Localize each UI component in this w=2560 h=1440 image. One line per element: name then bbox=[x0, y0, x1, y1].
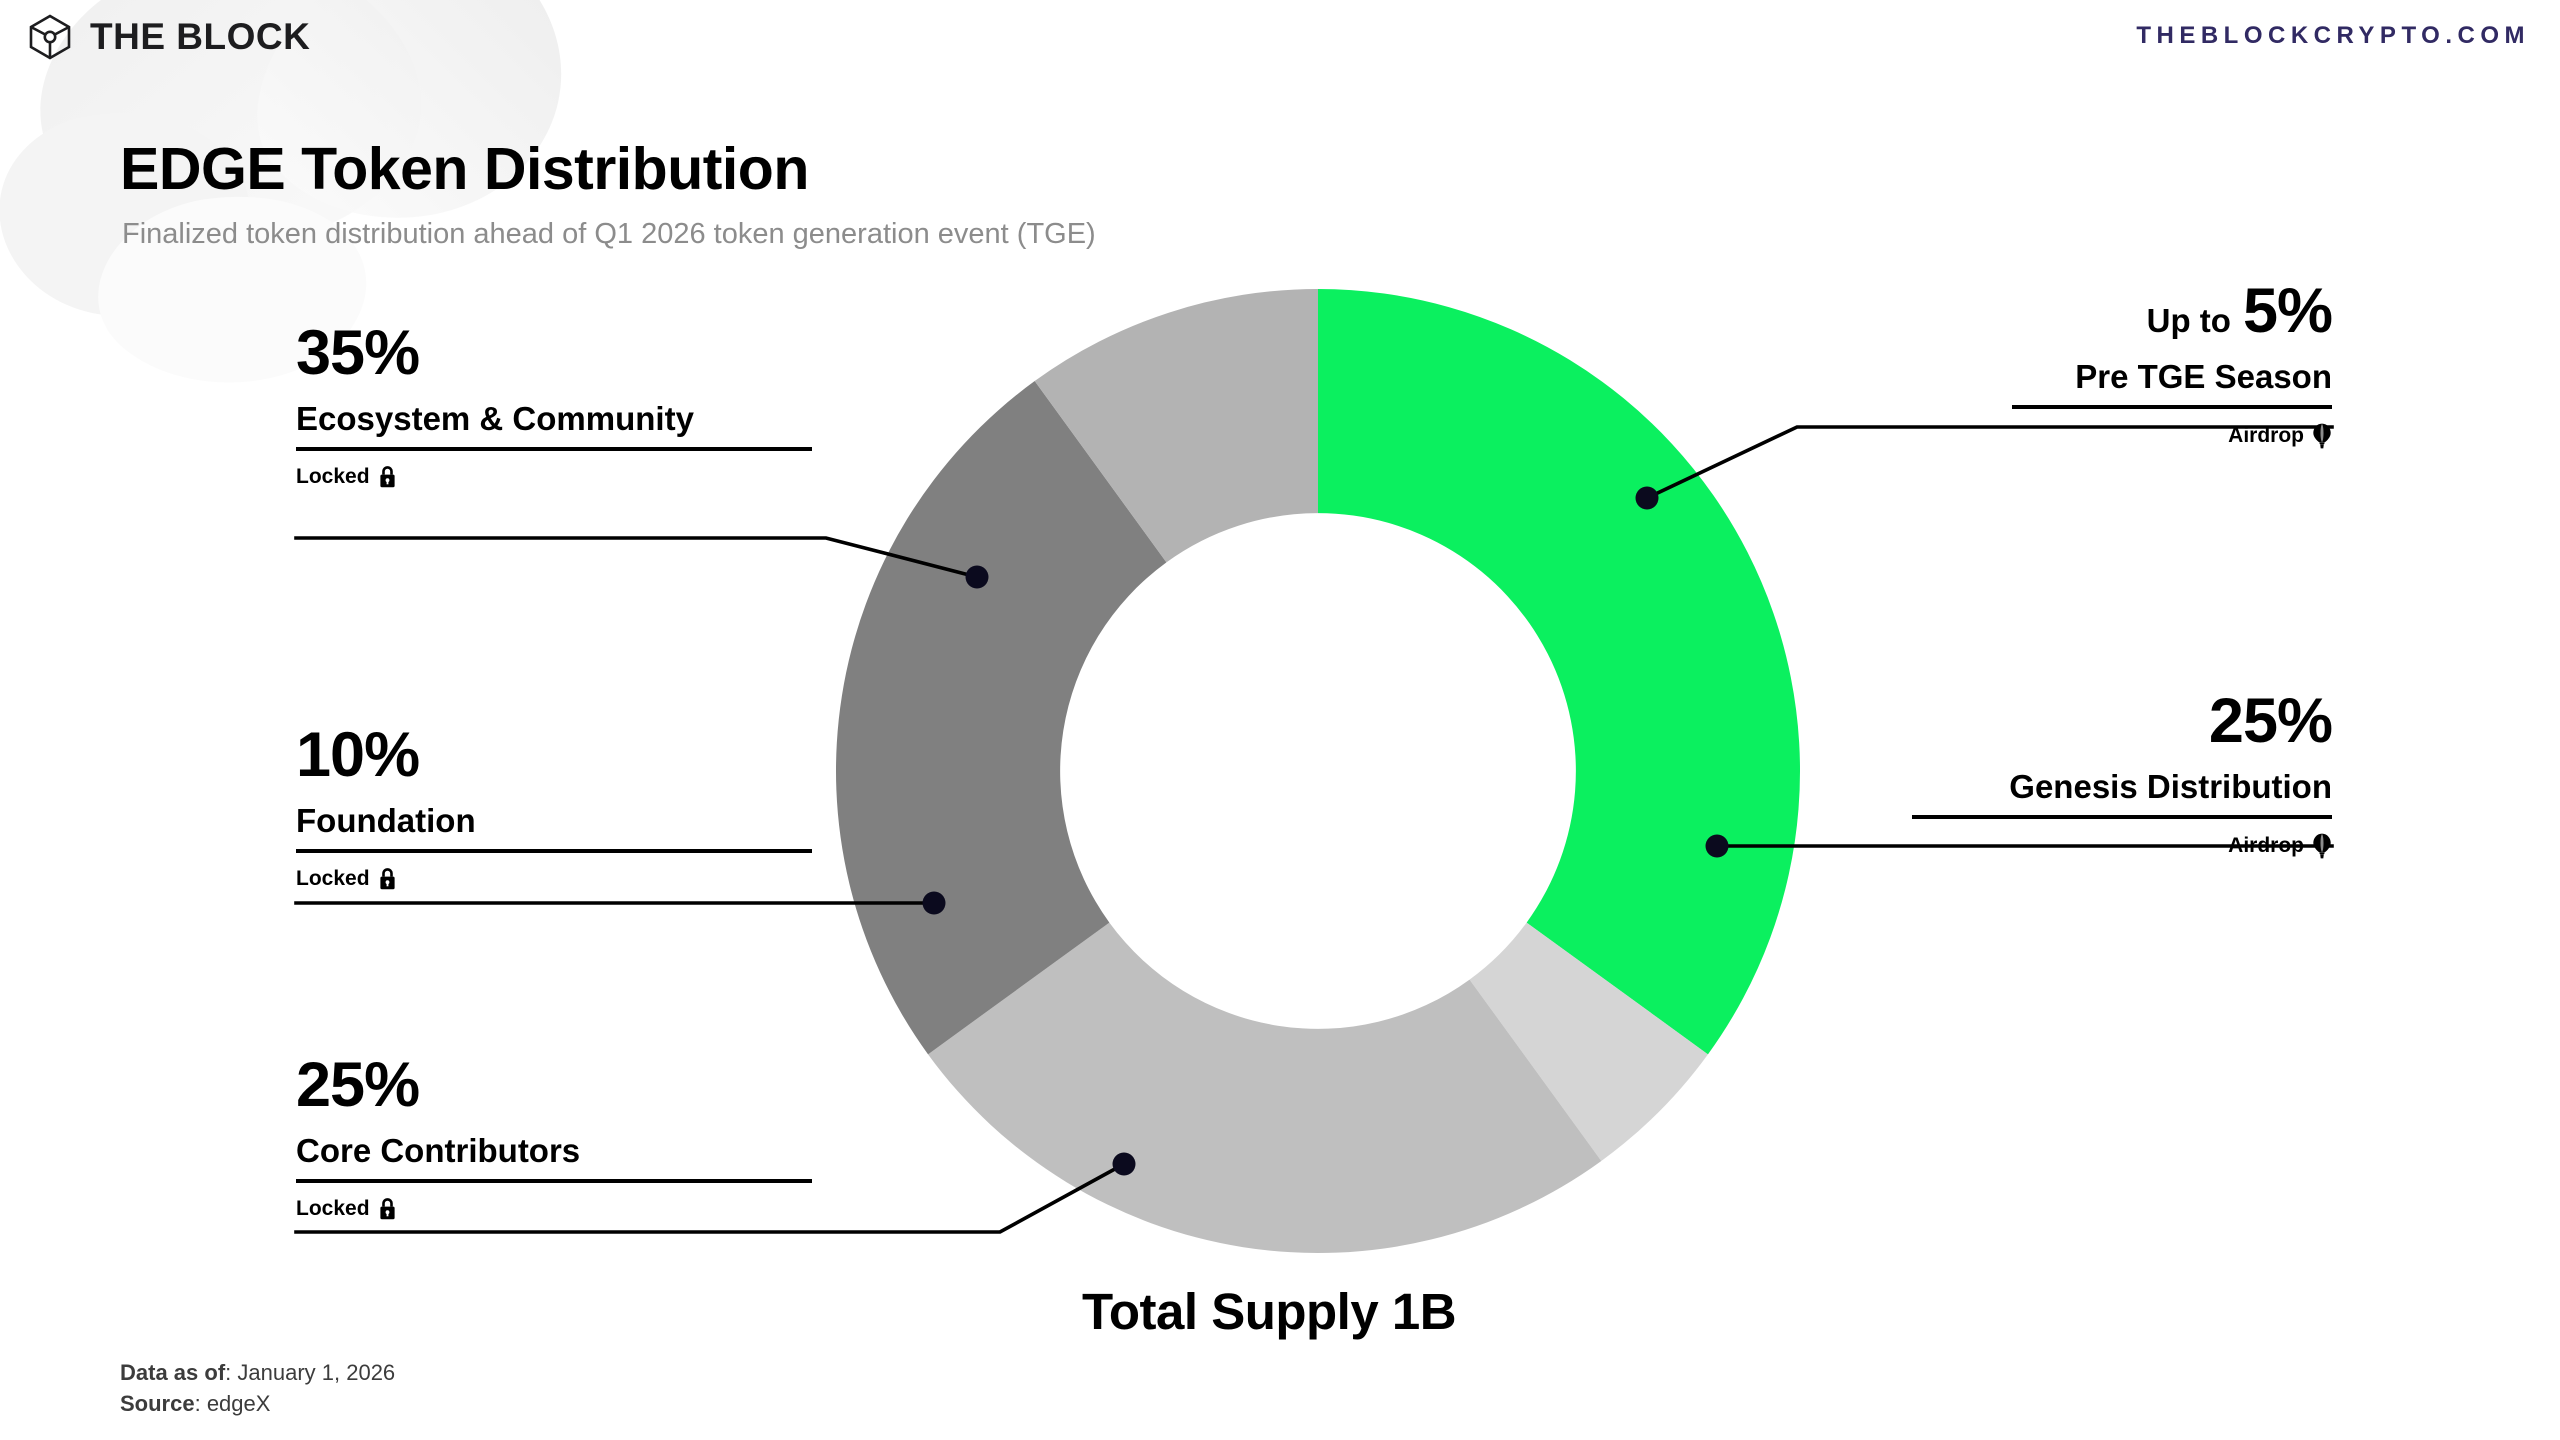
callout-percent: 5% bbox=[2243, 278, 2332, 344]
leader-line-ecosystem bbox=[296, 538, 977, 577]
callout-tag-label: Locked bbox=[296, 867, 370, 891]
callout-pre-tge-season: Up to 5% Pre TGE Season Airdrop bbox=[2012, 278, 2332, 449]
callout-tag-label: Locked bbox=[296, 1197, 370, 1221]
callout-percent: 25% bbox=[296, 1052, 419, 1118]
callout-percent-prefix: Up to bbox=[2147, 302, 2231, 340]
footnote-data-as-of: Data as of: January 1, 2026 bbox=[120, 1357, 395, 1388]
callout-ecosystem: 35% Ecosystem & Community Locked bbox=[296, 320, 812, 489]
callout-tag-row: Locked bbox=[296, 867, 812, 891]
callout-category: Ecosystem & Community bbox=[296, 400, 812, 438]
callout-rule bbox=[1912, 815, 2332, 819]
callout-percent-row: Up to 5% bbox=[2012, 278, 2332, 344]
cube-logo-icon bbox=[28, 14, 72, 60]
callout-genesis-distribution: 25% Genesis Distribution Airdrop bbox=[1912, 688, 2332, 859]
page-subtitle: Finalized token distribution ahead of Q1… bbox=[122, 218, 1096, 251]
callout-tag-label: Airdrop bbox=[2228, 834, 2304, 858]
footnote-source-key: Source bbox=[120, 1391, 195, 1416]
leader-dot-ecosystem bbox=[966, 566, 989, 589]
page-title: EDGE Token Distribution bbox=[120, 135, 809, 203]
callout-category: Genesis Distribution bbox=[1912, 768, 2332, 806]
leader-dot-foundation bbox=[923, 892, 946, 915]
callout-tag-row: Airdrop bbox=[1912, 833, 2332, 859]
footnote: Data as of: January 1, 2026 Source: edge… bbox=[120, 1357, 395, 1419]
leader-dots bbox=[923, 487, 1729, 1176]
hot-air-balloon-icon bbox=[2312, 423, 2332, 449]
callout-tag-label: Airdrop bbox=[2228, 424, 2304, 448]
lock-icon bbox=[378, 867, 397, 891]
site-url: THEBLOCKCRYPTO.COM bbox=[2136, 22, 2530, 50]
leader-dot-genesis bbox=[1706, 835, 1729, 858]
leader-dot-core bbox=[1113, 1153, 1136, 1176]
footnote-data-key: Data as of bbox=[120, 1360, 225, 1385]
lock-icon bbox=[378, 1197, 397, 1221]
callout-percent: 10% bbox=[296, 722, 419, 788]
callout-percent: 25% bbox=[2209, 688, 2332, 754]
total-supply-label: Total Supply 1B bbox=[1082, 1282, 1456, 1341]
callout-foundation: 10% Foundation Locked bbox=[296, 722, 812, 891]
callout-tag-row: Locked bbox=[296, 465, 812, 489]
callout-core-contributors: 25% Core Contributors Locked bbox=[296, 1052, 812, 1221]
callout-tag-row: Locked bbox=[296, 1197, 812, 1221]
callout-percent-row: 25% bbox=[1912, 688, 2332, 754]
leader-dot-pretge bbox=[1636, 487, 1659, 510]
footnote-source: Source: edgeX bbox=[120, 1388, 395, 1419]
callout-rule bbox=[2012, 405, 2332, 409]
brand-wordmark: THE BLOCK bbox=[90, 16, 310, 58]
lock-icon bbox=[378, 465, 397, 489]
callout-rule bbox=[296, 849, 812, 853]
footnote-source-value: : edgeX bbox=[195, 1391, 271, 1416]
brand-lockup: THE BLOCK bbox=[28, 14, 310, 60]
callout-percent: 35% bbox=[296, 320, 419, 386]
callout-category: Foundation bbox=[296, 802, 812, 840]
callout-tag-row: Airdrop bbox=[2012, 423, 2332, 449]
callout-percent-row: 25% bbox=[296, 1052, 812, 1118]
callout-tag-label: Locked bbox=[296, 465, 370, 489]
footnote-data-value: : January 1, 2026 bbox=[225, 1360, 395, 1385]
callout-category: Core Contributors bbox=[296, 1132, 812, 1170]
callout-category: Pre TGE Season bbox=[2012, 358, 2332, 396]
callout-rule bbox=[296, 1179, 812, 1183]
callout-percent-row: 35% bbox=[296, 320, 812, 386]
callout-percent-row: 10% bbox=[296, 722, 812, 788]
hot-air-balloon-icon bbox=[2312, 833, 2332, 859]
callout-rule bbox=[296, 447, 812, 451]
page-header: THE BLOCK THEBLOCKCRYPTO.COM bbox=[0, 0, 2560, 90]
